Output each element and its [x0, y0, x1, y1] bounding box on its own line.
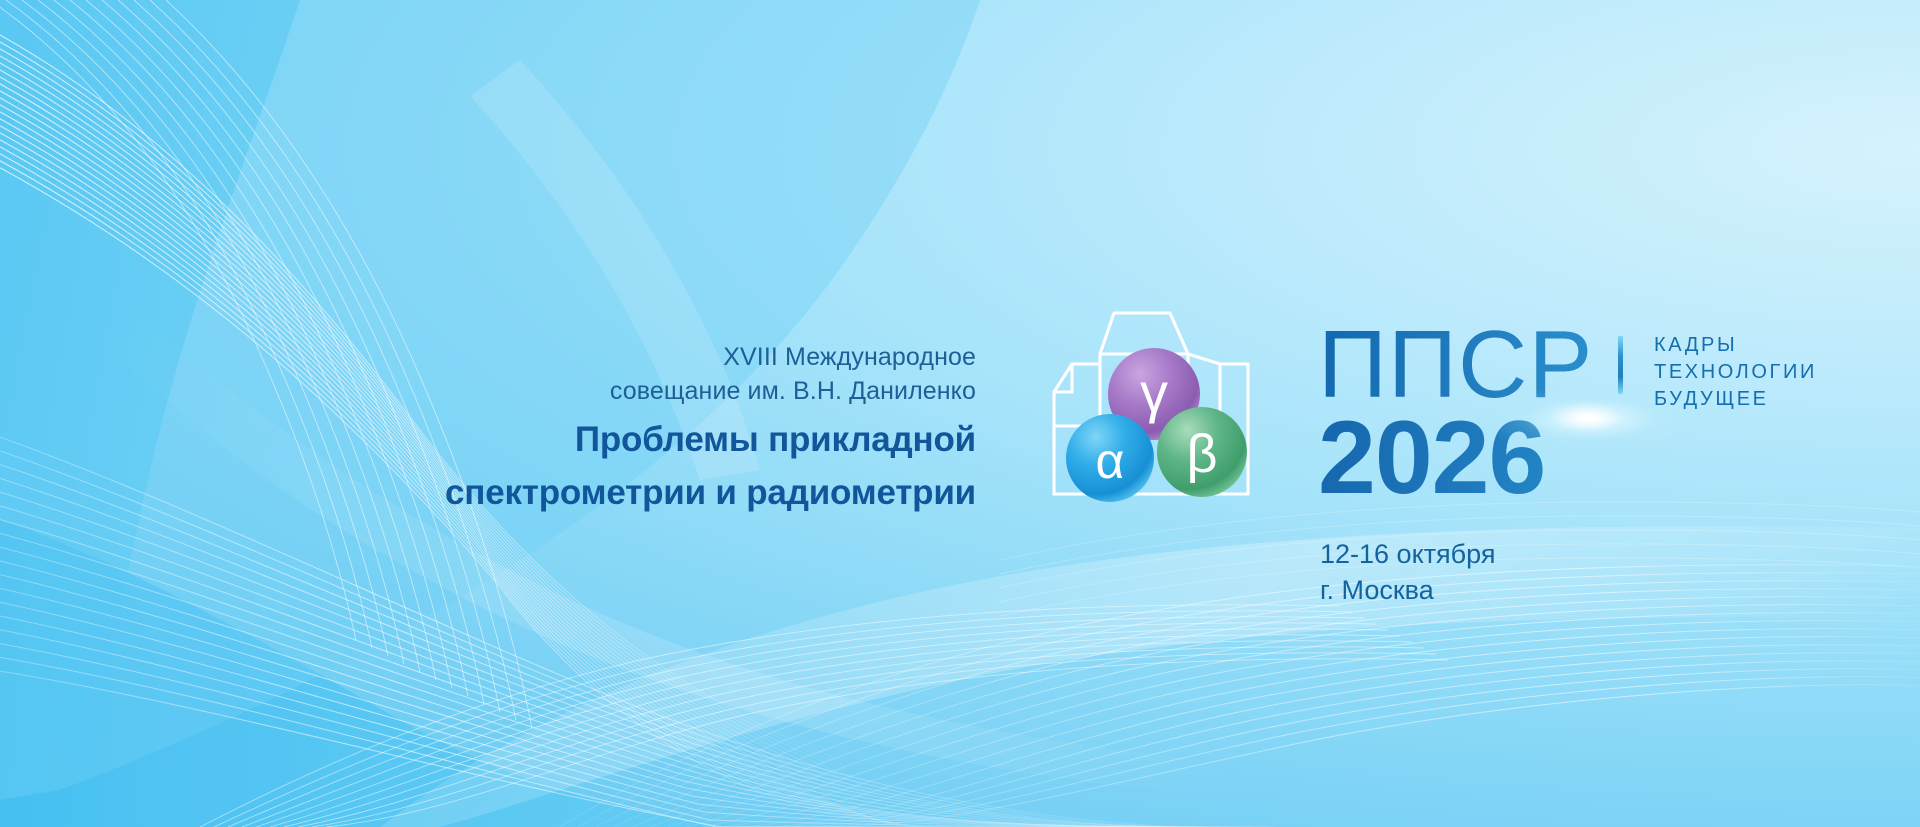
event-title-line-2: спектрометрии и радиометрии [0, 472, 976, 514]
vertical-divider [1618, 336, 1623, 394]
event-kicker-line-1: XVIII Международное [0, 340, 976, 374]
event-banner: XVIII Международное совещание им. В.Н. Д… [0, 0, 1920, 827]
tagline-line-1: КАДРЫ [1654, 332, 1817, 359]
svg-text:γ: γ [1140, 361, 1168, 424]
tagline-line-3: БУДУЩЕЕ [1654, 386, 1817, 413]
svg-text:α: α [1096, 433, 1125, 489]
date-location-block: 12-16 октября г. Москва [1320, 536, 1495, 608]
tagline-block: КАДРЫ ТЕХНОЛОГИИ БУДУЩЕЕ [1654, 332, 1817, 413]
brand-lockup: ППСР 2026 КАДРЫ ТЕХНОЛОГИИ БУДУЩЕЕ 12-16… [1318, 324, 1918, 614]
sphere-beta: β [1157, 407, 1247, 497]
event-title-line-1: Проблемы прикладной [0, 419, 976, 461]
tagline-line-2: ТЕХНОЛОГИИ [1654, 359, 1817, 386]
event-city: г. Москва [1320, 572, 1495, 608]
building-with-particles-emblem: γ α β [1042, 288, 1258, 536]
svg-text:β: β [1186, 424, 1217, 484]
sphere-alpha: α [1066, 414, 1154, 502]
event-kicker-line-2: совещание им. В.Н. Даниленко [0, 374, 976, 408]
event-dates: 12-16 октября [1320, 536, 1495, 572]
brand-year: 2026 [1318, 412, 1918, 504]
headline-block: XVIII Международное совещание им. В.Н. Д… [0, 340, 976, 514]
